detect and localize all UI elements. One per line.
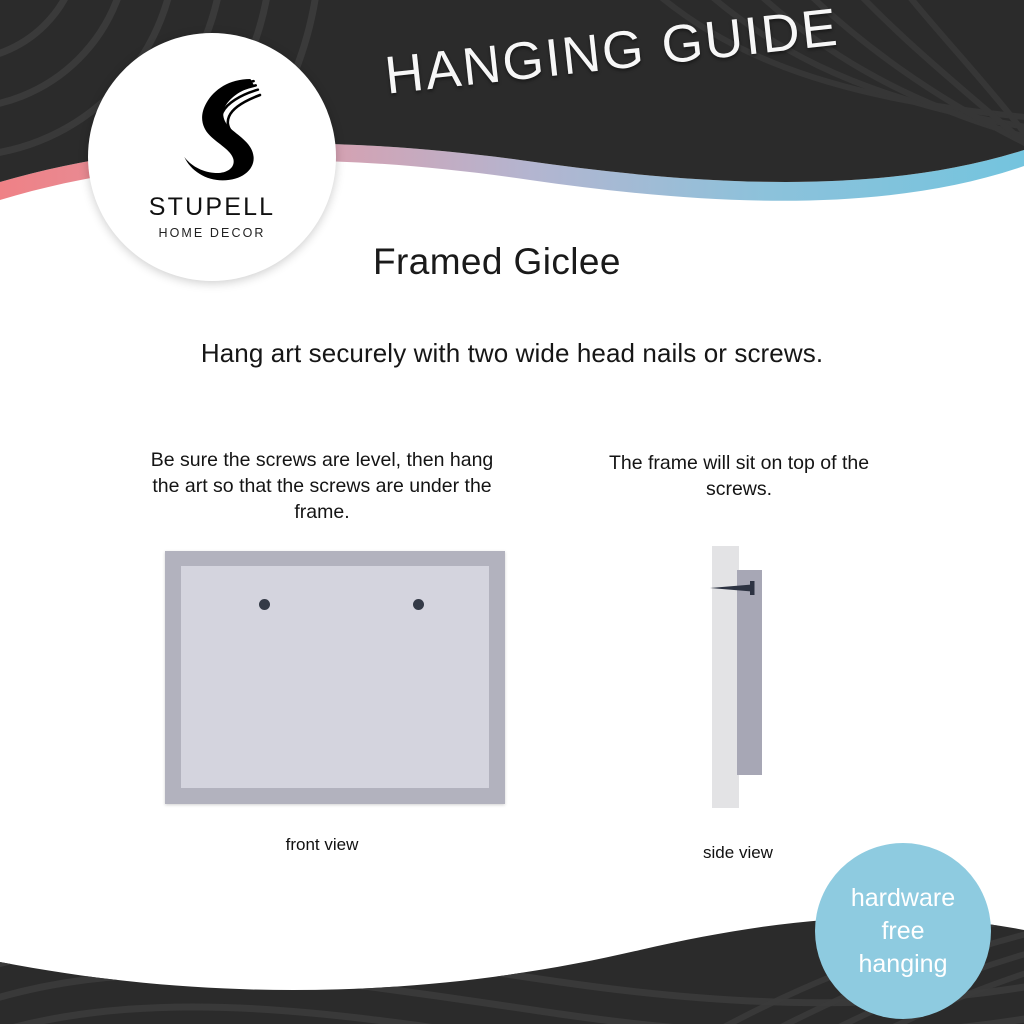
product-type-label: Framed Giclee <box>373 241 621 283</box>
front-view-frame-diagram <box>165 551 505 804</box>
brand-logo-badge: STUPELL HOME DECOR <box>88 33 336 281</box>
side-view-diagram <box>700 546 780 808</box>
front-view-label: front view <box>150 835 494 855</box>
side-view-frame <box>737 570 762 775</box>
badge-line-2: free <box>881 915 924 948</box>
badge-line-1: hardware <box>851 882 955 915</box>
screw-dot-right-icon <box>413 599 424 610</box>
brand-tagline: HOME DECOR <box>158 226 265 240</box>
side-view-label: side view <box>600 843 876 863</box>
screw-dot-left-icon <box>259 599 270 610</box>
front-view-art-area <box>181 566 489 788</box>
hardware-free-hanging-badge: hardware free hanging <box>815 843 991 1019</box>
page-title: HANGING GUIDE <box>382 0 842 107</box>
side-view-caption: The frame will sit on top of the screws. <box>592 450 886 502</box>
front-view-caption: Be sure the screws are level, then hang … <box>150 447 494 525</box>
hanging-guide-page: STUPELL HOME DECOR HANGING GUIDE Framed … <box>0 0 1024 1024</box>
brand-name: STUPELL <box>149 193 276 222</box>
main-instruction-text: Hang art securely with two wide head nai… <box>0 338 1024 369</box>
nail-icon <box>706 578 768 598</box>
stupell-swoosh-logo-icon <box>148 63 276 191</box>
badge-line-3: hanging <box>859 948 948 981</box>
